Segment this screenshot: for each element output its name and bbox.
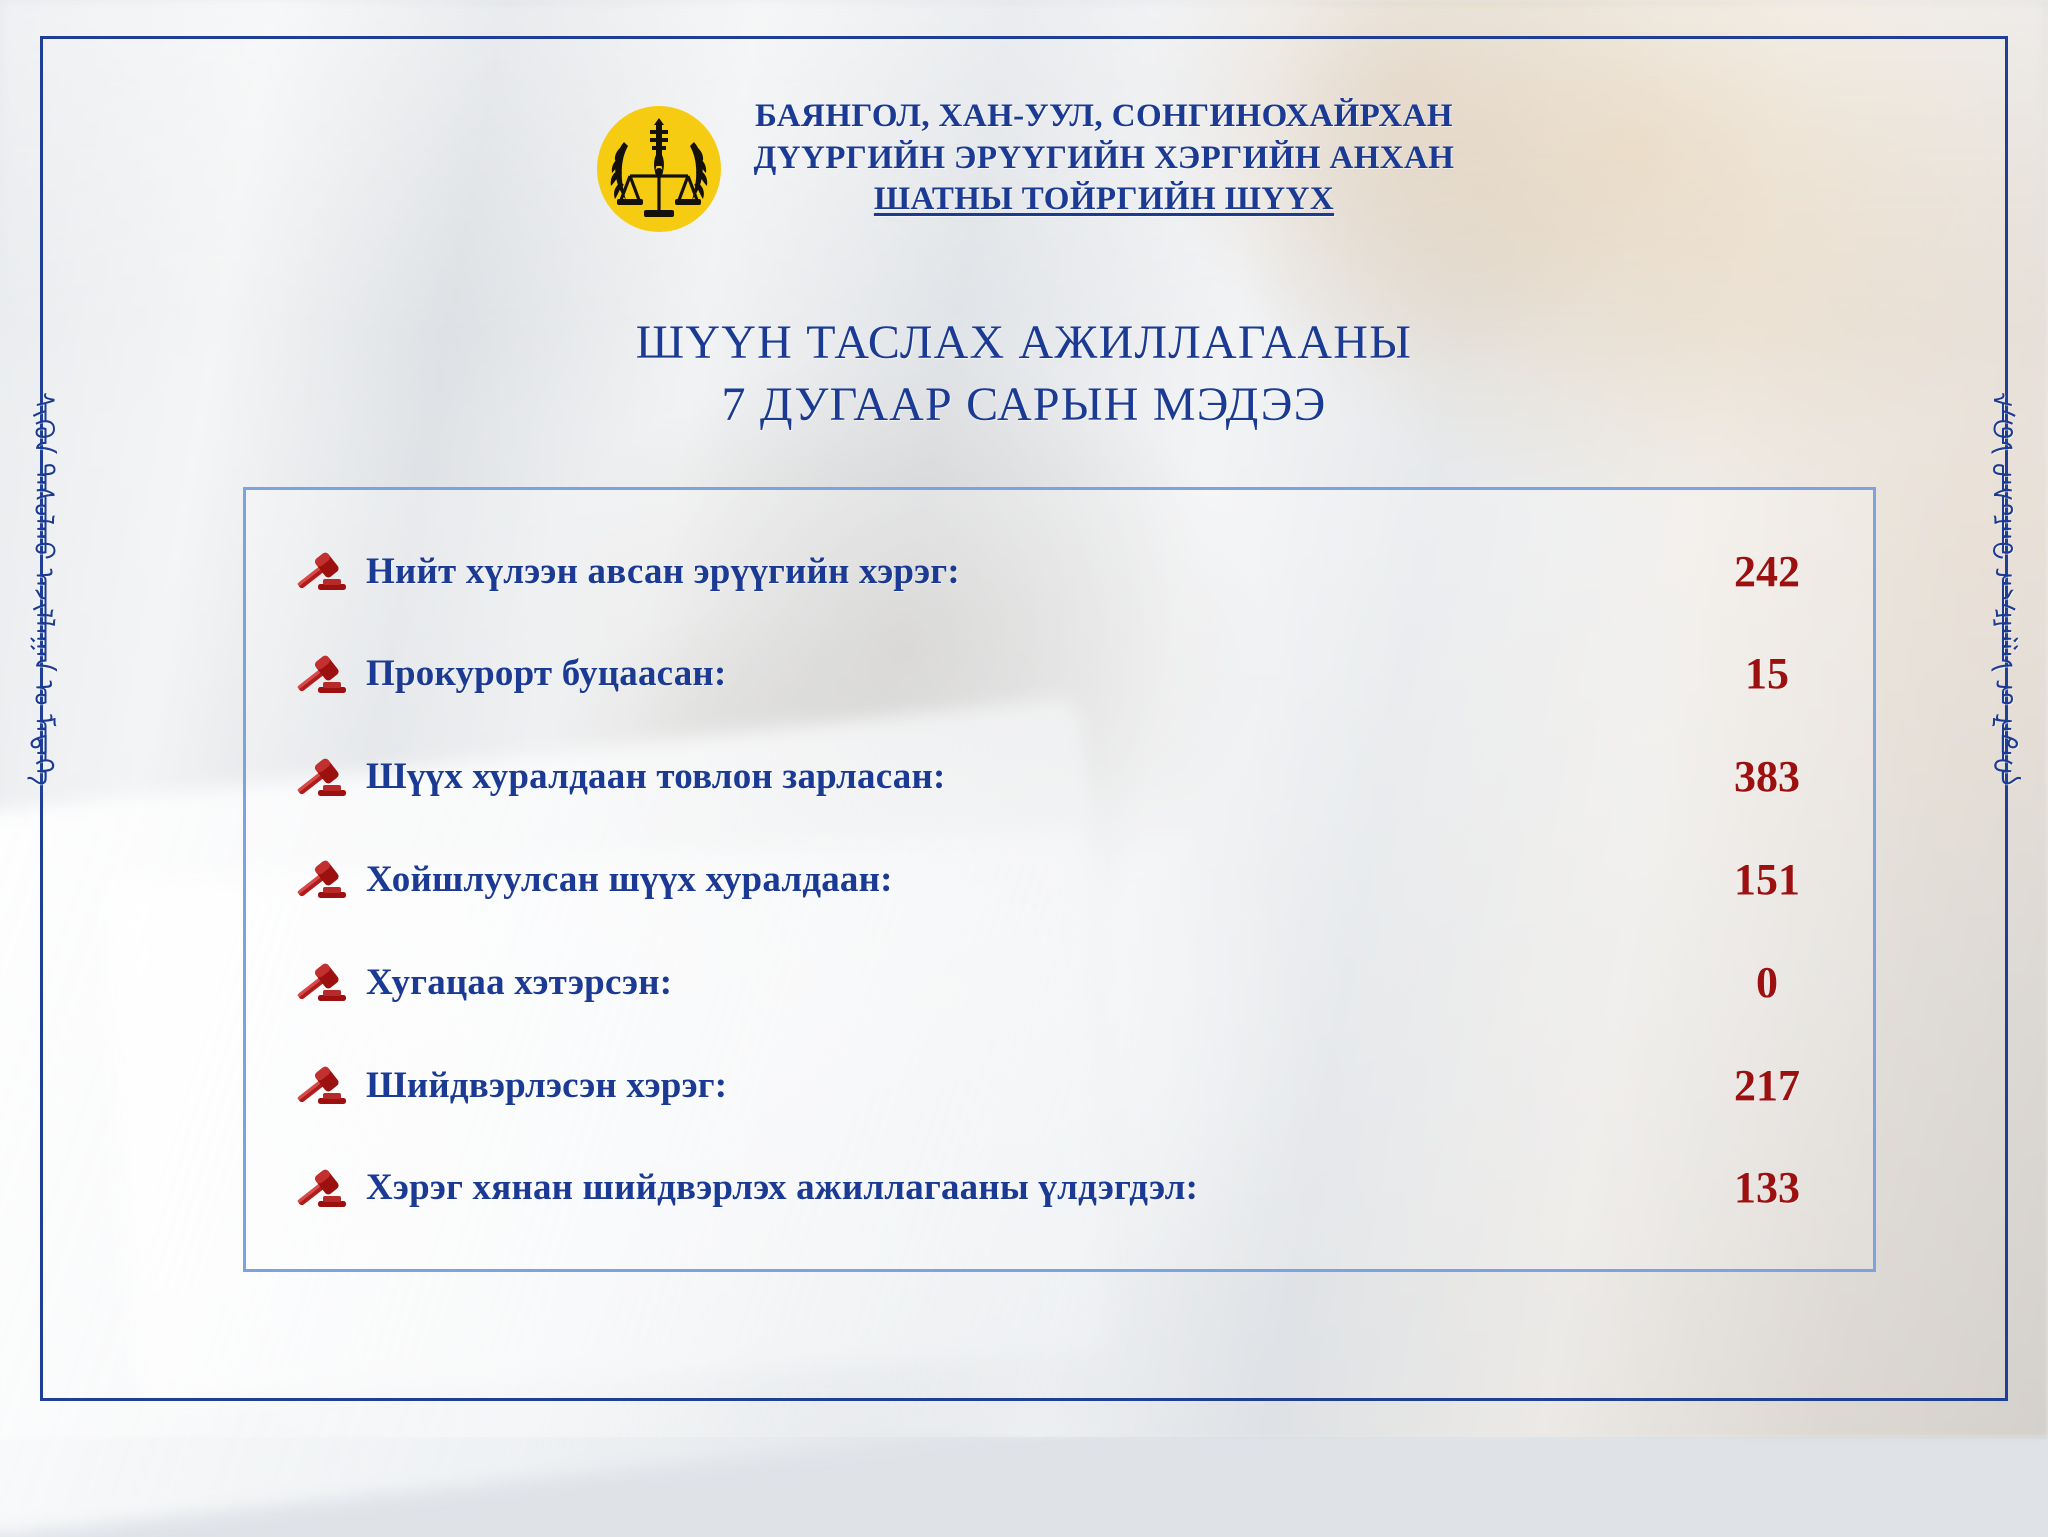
- gavel-icon: [292, 1165, 348, 1211]
- stat-row: Хугацаа хэтэрсэн:0: [292, 937, 1827, 1027]
- stat-row: Шийдвэрлэсэн хэрэг:217: [292, 1040, 1827, 1130]
- gavel-icon: [292, 548, 348, 594]
- stat-label: Хойшлуулсан шүүх хуралдаан:: [366, 858, 893, 901]
- stat-row: Шүүх хуралдаан товлон зарласан:383: [292, 732, 1827, 822]
- stat-value: 151: [1707, 854, 1827, 905]
- statistics-list: Нийт хүлээн авсан эрүүгийн хэрэг:242 Про…: [292, 526, 1827, 1233]
- page-title: ШҮҮН ТАСЛАХ АЖИЛЛАГААНЫ 7 ДУГААР САРЫН М…: [0, 312, 2048, 437]
- org-title-line-1: БАЯНГОЛ, ХАН-УУЛ, СОНГИНОХАЙРХАН: [754, 96, 1455, 138]
- stat-label: Шүүх хуралдаан товлон зарласан:: [366, 755, 946, 798]
- gavel-icon: [292, 754, 348, 800]
- org-title-line-3: ШАТНЫ ТОЙРГИЙН ШҮҮХ: [754, 179, 1455, 221]
- stat-value: 242: [1707, 546, 1827, 597]
- gavel-icon: [292, 651, 348, 697]
- stat-label: Прокурорт буцаасан:: [366, 652, 726, 695]
- page-title-line-1: ШҮҮН ТАСЛАХ АЖИЛЛАГААНЫ: [0, 312, 2048, 374]
- stat-label: Нийт хүлээн авсан эрүүгийн хэрэг:: [366, 550, 960, 593]
- stat-value: 0: [1707, 957, 1827, 1008]
- statistics-panel: Нийт хүлээн авсан эрүүгийн хэрэг:242 Про…: [243, 487, 1876, 1272]
- stat-row: Нийт хүлээн авсан эрүүгийн хэрэг:242: [292, 526, 1827, 616]
- stat-row: Хэрэг хянан шийдвэрлэх ажиллагааны үлдэг…: [292, 1143, 1827, 1233]
- org-title-line-2: ДҮҮРГИЙН ЭРҮҮГИЙН ХЭРГИЙН АНХАН: [754, 138, 1455, 180]
- stat-value: 133: [1707, 1162, 1827, 1213]
- gavel-icon: [292, 856, 348, 902]
- page-title-line-2: 7 ДУГААР САРЫН МЭДЭЭ: [0, 374, 2048, 436]
- stat-label: Шийдвэрлэсэн хэрэг:: [366, 1064, 727, 1107]
- mongolian-script-left: ᠰᠢᠭᠦᠨ ᠲᠠᠰᠤᠯᠬᠤ ᠠᠵᠢᠯᠯᠠᠭᠠᠨ ᠤ ᠮᠡᠳᠡᠭᠡ: [22, 392, 63, 786]
- stat-label: Хугацаа хэтэрсэн:: [366, 961, 672, 1004]
- stat-value: 15: [1707, 648, 1827, 699]
- mongolian-script-right: ᠰᠢᠭᠦᠨ ᠲᠠᠰᠤᠯᠬᠤ ᠠᠵᠢᠯᠯᠠᠭᠠᠨ ᠤ ᠮᠡᠳᠡᠭᠡ: [1986, 392, 2027, 786]
- header: БАЯНГОЛ, ХАН-УУЛ, СОНГИНОХАЙРХАН ДҮҮРГИЙ…: [0, 96, 2048, 234]
- stat-value: 383: [1707, 751, 1827, 802]
- stat-row: Хойшлуулсан шүүх хуралдаан:151: [292, 834, 1827, 924]
- organization-title: БАЯНГОЛ, ХАН-УУЛ, СОНГИНОХАЙРХАН ДҮҮРГИЙ…: [754, 96, 1455, 221]
- stat-value: 217: [1707, 1060, 1827, 1111]
- stat-label: Хэрэг хянан шийдвэрлэх ажиллагааны үлдэг…: [366, 1166, 1198, 1209]
- gavel-icon: [292, 959, 348, 1005]
- court-emblem-icon: [594, 104, 724, 234]
- stat-row: Прокурорт буцаасан:15: [292, 629, 1827, 719]
- gavel-icon: [292, 1062, 348, 1108]
